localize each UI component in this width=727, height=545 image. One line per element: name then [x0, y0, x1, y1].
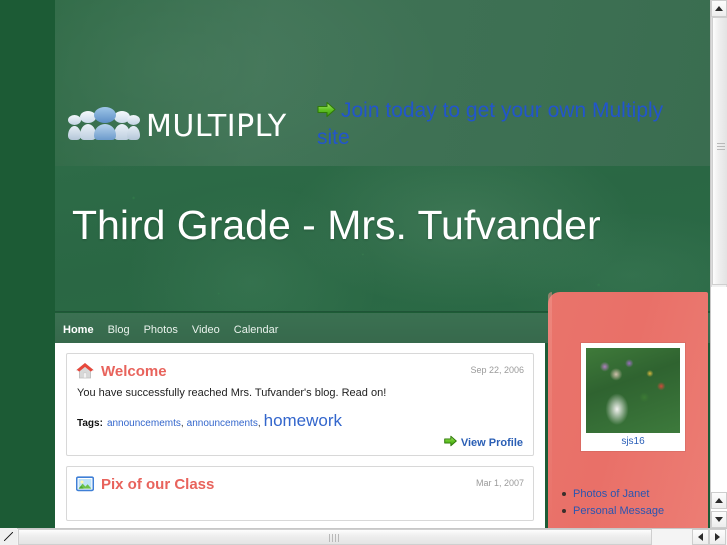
page-title: Third Grade - Mrs. Tufvander: [72, 202, 601, 249]
promo-banner: MULTIPLY: [55, 0, 710, 166]
multiply-logo[interactable]: MULTIPLY: [68, 110, 287, 140]
green-arrow-right-icon: [317, 99, 336, 125]
scroll-right-button[interactable]: [709, 529, 726, 545]
sidebar-edge-highlight: [548, 292, 552, 528]
nav-list: Home Blog Photos Video Calendar: [63, 320, 278, 338]
post-date: Mar 1, 2007: [476, 478, 524, 488]
bullet-icon: [562, 492, 566, 496]
tag-separator: ,: [181, 418, 184, 429]
tag-link[interactable]: announcememts: [107, 418, 181, 429]
nav-item-video[interactable]: Video: [192, 324, 220, 336]
scroll-up-button-bottom[interactable]: [711, 492, 727, 509]
post-title-link[interactable]: Pix of our Class: [101, 476, 214, 493]
post-card: Welcome Sep 22, 2006 You have successful…: [66, 353, 534, 456]
sidebar-item-personal-message[interactable]: Personal Message: [573, 505, 664, 517]
bullet-icon: [562, 509, 566, 513]
scroll-up-arrow-icon: [715, 498, 723, 503]
vertical-scrollbar-track[interactable]: [711, 17, 727, 287]
vertical-scrollbar-thumb[interactable]: [712, 17, 727, 285]
scrollbar-grip-icon: [717, 143, 725, 152]
scroll-up-arrow-icon: [715, 6, 723, 11]
join-today-link[interactable]: Join today to get your own Multiply site: [317, 98, 697, 151]
join-today-text: Join today to get your own Multiply site: [317, 99, 663, 149]
post-title-link[interactable]: Welcome: [101, 363, 167, 380]
multiply-wordmark: MULTIPLY: [146, 112, 287, 142]
post-tags-row: Tags: announcememts, announcements, home…: [67, 407, 533, 433]
horizontal-scrollbar-thumb[interactable]: [18, 529, 652, 545]
avatar-username-link[interactable]: sjs16: [586, 436, 680, 447]
scrollbar-grip-icon: [329, 534, 339, 542]
page-canvas: MULTIPLY: [0, 0, 710, 528]
horizontal-scrollbar[interactable]: [0, 528, 727, 545]
scroll-left-button-right[interactable]: [692, 529, 709, 545]
scroll-down-arrow-icon: [715, 517, 723, 522]
post-card-footer: View Profile: [67, 433, 533, 455]
list-item[interactable]: Personal Message: [562, 505, 664, 517]
promo-banner-inner: MULTIPLY: [55, 0, 710, 166]
photo-landscape-icon: [76, 475, 94, 493]
nav-item-calendar[interactable]: Calendar: [234, 324, 279, 336]
tag-separator: ,: [258, 418, 261, 429]
scroll-up-button[interactable]: [711, 0, 727, 17]
post-card: Pix of our Class Mar 1, 2007: [66, 466, 534, 521]
window-resize-grip[interactable]: [0, 528, 17, 545]
home-house-icon: [76, 362, 94, 380]
page-left-gutter: [0, 0, 55, 528]
profile-sidebar: sjs16 Photos of Janet Personal Message: [548, 292, 708, 528]
post-body-text: [67, 495, 533, 520]
nav-item-blog[interactable]: Blog: [108, 324, 130, 336]
scroll-right-arrow-icon: [715, 533, 720, 541]
resize-grip-icon: [4, 532, 13, 541]
post-header: Pix of our Class Mar 1, 2007: [67, 467, 533, 495]
view-profile-label: View Profile: [461, 437, 523, 449]
list-item[interactable]: Photos of Janet: [562, 488, 664, 500]
site-title-banner: Third Grade - Mrs. Tufvander: [55, 166, 710, 312]
post-date: Sep 22, 2006: [470, 365, 524, 375]
people-group-icon: [68, 110, 138, 140]
post-body-text: You have successfully reached Mrs. Tufva…: [67, 382, 533, 407]
post-header: Welcome Sep 22, 2006: [67, 354, 533, 382]
browser-viewport: MULTIPLY: [0, 0, 727, 545]
avatar[interactable]: sjs16: [581, 343, 685, 451]
avatar-photo-icon: [586, 348, 680, 433]
tag-link[interactable]: homework: [264, 411, 342, 431]
tags-label: Tags:: [77, 418, 103, 429]
scroll-left-arrow-icon: [698, 533, 703, 541]
sidebar-item-photos-of-janet[interactable]: Photos of Janet: [573, 488, 649, 500]
view-profile-link[interactable]: View Profile: [444, 435, 523, 450]
vertical-scrollbar[interactable]: [710, 0, 727, 528]
nav-item-home[interactable]: Home: [63, 324, 94, 336]
green-arrow-right-icon: [444, 435, 457, 450]
sidebar-link-list: Photos of Janet Personal Message: [562, 488, 664, 522]
main-content-column: Welcome Sep 22, 2006 You have successful…: [55, 343, 545, 528]
scroll-down-button[interactable]: [711, 511, 727, 528]
tag-link[interactable]: announcements: [187, 418, 258, 429]
nav-item-photos[interactable]: Photos: [144, 324, 178, 336]
